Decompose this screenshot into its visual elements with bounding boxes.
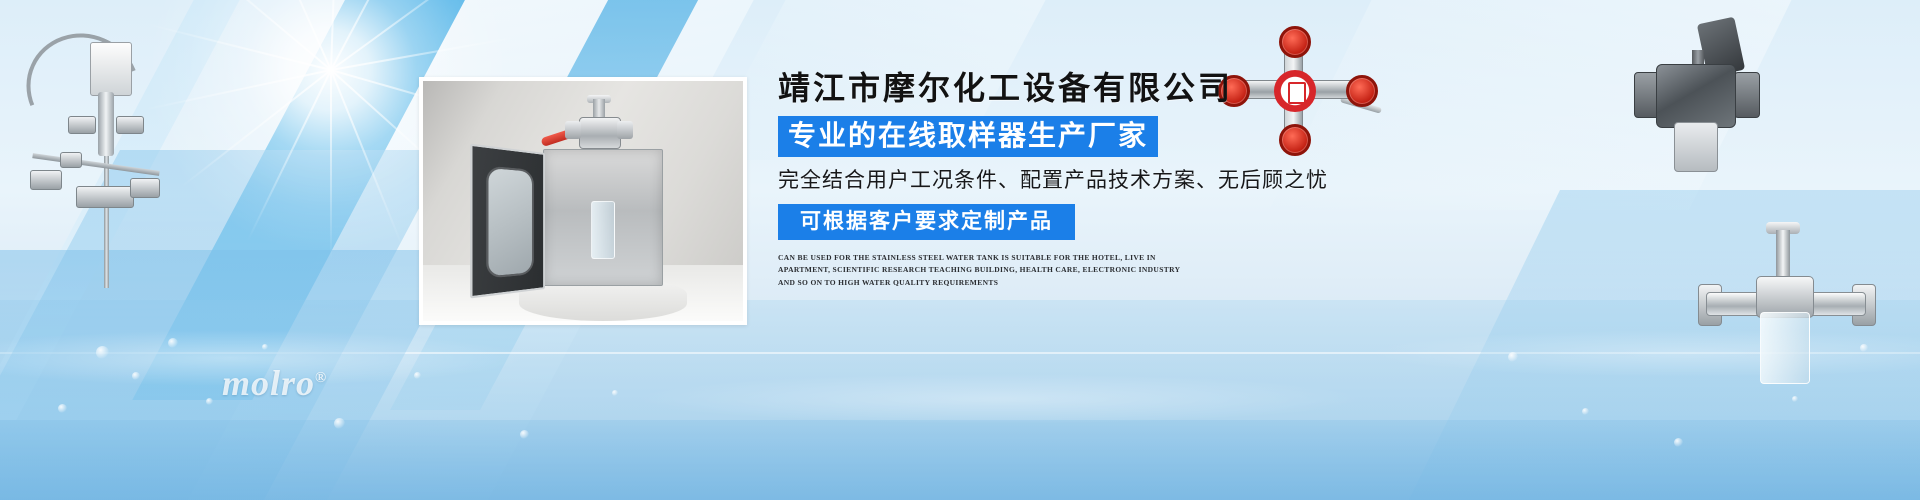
device-arc-tube [9,15,157,160]
device-fitting [130,178,160,198]
cta-label: 可根据客户要求定制产品 [800,211,1053,232]
red-handwheel-icon [1279,26,1311,58]
banner-text-block: 靖江市摩尔化工设备有限公司 专业的在线取样器生产厂家 完全结合用户工况条件、配置… [778,72,1478,289]
device-fitting [60,152,82,168]
promo-banner: 靖江市摩尔化工设备有限公司 专业的在线取样器生产厂家 完全结合用户工况条件、配置… [0,0,1920,500]
cta-button[interactable]: 可根据客户要求定制产品 [778,204,1075,240]
device-fitting [76,186,134,208]
valve-flange [1734,72,1760,118]
valve-bottom-chamber [1674,122,1718,172]
left-device-image [12,20,192,290]
steel-valve-image [1700,236,1870,386]
horizontal-rule-line [0,352,1920,354]
english-caption: CAN BE USED FOR THE STAINLESS STEEL WATE… [778,252,1198,289]
product-photo-inner [423,81,743,321]
center-product-photo [419,77,747,325]
device-fitting [68,116,96,134]
device-pole [104,138,109,288]
brand-watermark: molro® [222,362,327,404]
watermark-text: molro [222,363,315,403]
device-fitting [116,116,144,134]
cabinet-door-window [486,166,534,279]
cabinet-door [470,144,545,299]
valve-body [1656,64,1736,128]
sample-collection-jar [1760,312,1810,384]
horizontal-band-lower [0,420,1920,500]
registered-mark-icon: ® [315,370,327,386]
tagline-highlight-bar: 专业的在线取样器生产厂家 [778,116,1158,157]
tagline-text: 专业的在线取样器生产厂家 [788,122,1148,150]
device-housing [90,42,132,96]
company-name: 靖江市摩尔化工设备有限公司 [778,72,1478,104]
dark-valve-image [1630,22,1762,172]
sampler-valve-head [563,97,635,157]
sample-bottle [591,201,615,259]
subline-text: 完全结合用户工况条件、配置产品技术方案、无后顾之忧 [778,170,1478,191]
device-sight-glass [98,92,114,156]
device-fitting [30,170,62,190]
